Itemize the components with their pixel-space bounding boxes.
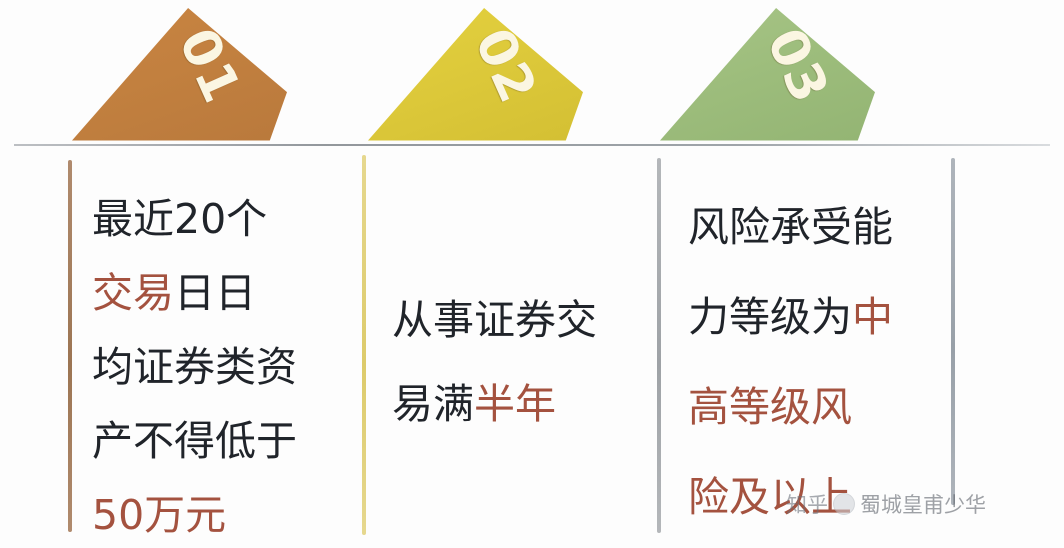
text-line: 50万元	[92, 478, 297, 548]
text-segment: 风险承受能	[688, 203, 893, 251]
text-segment: 从事证券交	[392, 296, 597, 344]
text-segment: 产不得低于	[92, 417, 297, 465]
divider-rod-four	[951, 158, 955, 505]
text-segment: 易满	[392, 380, 474, 428]
banner-two: 02	[368, 8, 583, 146]
banner-one: 01	[72, 8, 287, 146]
text-segment: 均证券类资	[92, 343, 297, 391]
watermark-author: 蜀城皇甫少华	[860, 489, 986, 519]
watermark: 知乎 蜀城皇甫少华	[786, 489, 986, 519]
text-segment: 半年	[474, 380, 556, 428]
infographic-canvas: 01 02 03 最近20个 交易日日 均证券类资 产不得低于 50万元 从事	[0, 0, 1064, 548]
text-line: 从事证券交	[392, 278, 597, 362]
banner-three: 03	[660, 8, 875, 146]
text-segment: 交易	[92, 269, 174, 317]
banner-three-shape	[660, 8, 875, 146]
banner-two-shape	[368, 8, 583, 146]
text-column-one: 最近20个 交易日日 均证券类资 产不得低于 50万元	[92, 182, 297, 548]
text-line: 力等级为中	[688, 272, 893, 362]
text-line: 风险承受能	[688, 182, 893, 272]
text-line: 交易日日	[92, 256, 297, 330]
avatar	[833, 493, 855, 515]
banner-one-shape	[72, 8, 287, 146]
horizontal-divider	[14, 144, 1050, 146]
zhihu-logo-icon: 知乎	[786, 489, 828, 519]
text-segment: 中	[852, 293, 893, 341]
divider-rod-two	[362, 155, 366, 535]
text-segment: 力等级为	[688, 293, 852, 341]
text-segment: 50万元	[92, 491, 226, 539]
text-line: 易满半年	[392, 362, 597, 446]
text-segment: 高等级风	[688, 383, 852, 431]
text-line: 产不得低于	[92, 404, 297, 478]
divider-rod-three	[657, 158, 661, 533]
text-segment: 日日	[174, 269, 256, 317]
text-column-two: 从事证券交 易满半年	[392, 278, 597, 446]
divider-rod-one	[68, 160, 72, 532]
text-column-three: 风险承受能 力等级为中 高等级风 险及以上	[688, 182, 893, 542]
text-line: 高等级风	[688, 362, 893, 452]
text-line: 均证券类资	[92, 330, 297, 404]
text-segment: 最近20个	[92, 195, 267, 243]
text-line: 最近20个	[92, 182, 297, 256]
